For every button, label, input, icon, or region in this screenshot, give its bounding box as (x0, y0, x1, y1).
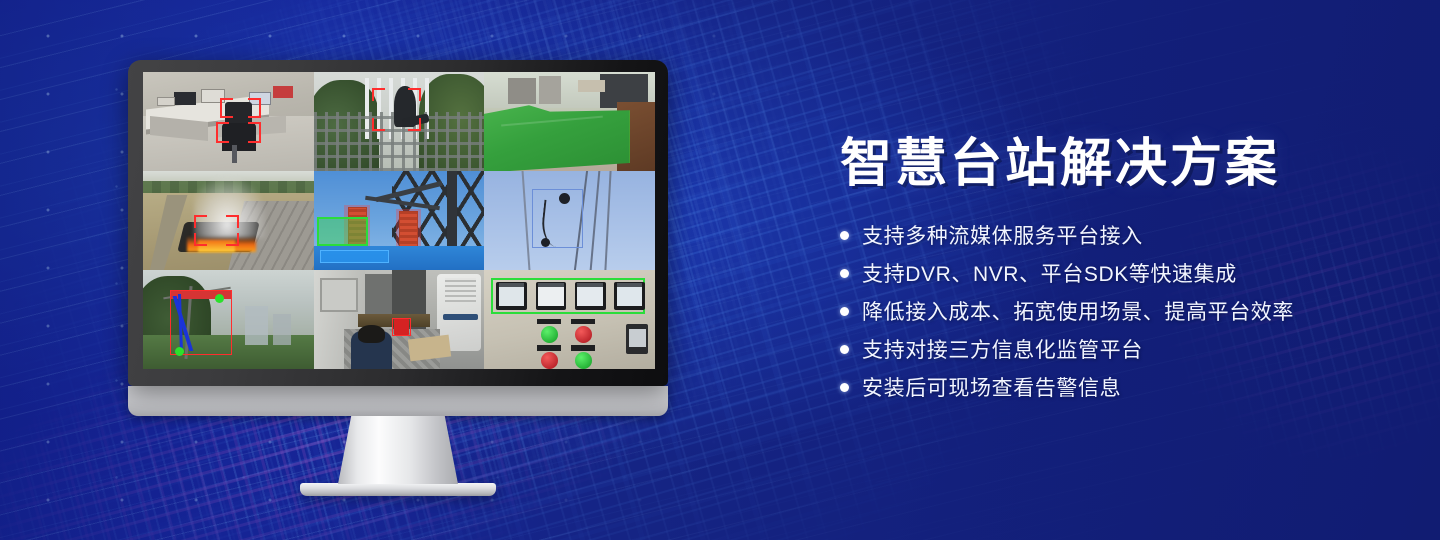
camera-cell-powerline-object[interactable] (484, 171, 655, 270)
camera-cell-fire-detection[interactable] (143, 171, 314, 270)
camera-cell-insulator-tower[interactable] (314, 171, 485, 270)
camera-cell-equipment-room[interactable] (314, 270, 485, 369)
monitor-stand-base (300, 483, 496, 496)
bullet-dot-icon (840, 269, 849, 278)
feature-label: 支持多种流媒体服务平台接入 (862, 220, 1143, 250)
blue-detection-box (532, 189, 583, 248)
page-title: 智慧台站解决方案 (840, 136, 1400, 192)
detection-bracket-red (220, 98, 261, 118)
feature-list: 支持多种流媒体服务平台接入 支持DVR、NVR、平台SDK等快速集成 降低接入成… (840, 216, 1400, 406)
camera-cell-pole-tilt[interactable] (143, 270, 314, 369)
camera-cell-fence-intrusion[interactable] (314, 72, 485, 171)
feature-label: 支持DVR、NVR、平台SDK等快速集成 (862, 258, 1237, 288)
monitor-bezel (128, 60, 668, 386)
banner-root: 智慧台站解决方案 支持多种流媒体服务平台接入 支持DVR、NVR、平台SDK等快… (0, 0, 1440, 540)
bullet-dot-icon (840, 231, 849, 240)
green-detection-box (317, 217, 368, 247)
feature-label: 安装后可现场查看告警信息 (862, 372, 1121, 402)
camera-cell-green-tarp[interactable] (484, 72, 655, 171)
monitor-chin (128, 386, 668, 416)
detection-bracket-red-2 (216, 122, 260, 144)
feature-item-5: 安装后可现场查看告警信息 (840, 368, 1400, 406)
camera-cell-control-room[interactable] (143, 72, 314, 171)
feature-item-1: 支持多种流媒体服务平台接入 (840, 216, 1400, 254)
feature-item-2: 支持DVR、NVR、平台SDK等快速集成 (840, 254, 1400, 292)
surveillance-grid (143, 72, 655, 369)
detection-bracket-red (372, 88, 421, 132)
bullet-dot-icon (840, 383, 849, 392)
feature-item-3: 降低接入成本、拓宽使用场景、提高平台效率 (840, 292, 1400, 330)
monitor-illustration (128, 60, 668, 496)
camera-cell-control-panel[interactable] (484, 270, 655, 369)
monitor-stand-neck (338, 416, 458, 484)
detection-bracket-red (194, 215, 238, 247)
green-region-overlay (484, 102, 631, 171)
feature-label: 支持对接三方信息化监管平台 (862, 334, 1143, 364)
feature-label: 降低接入成本、拓宽使用场景、提高平台效率 (862, 296, 1294, 326)
content-panel: 智慧台站解决方案 支持多种流媒体服务平台接入 支持DVR、NVR、平台SDK等快… (840, 136, 1400, 406)
bullet-dot-icon (840, 307, 849, 316)
bullet-dot-icon (840, 345, 849, 354)
feature-item-4: 支持对接三方信息化监管平台 (840, 330, 1400, 368)
